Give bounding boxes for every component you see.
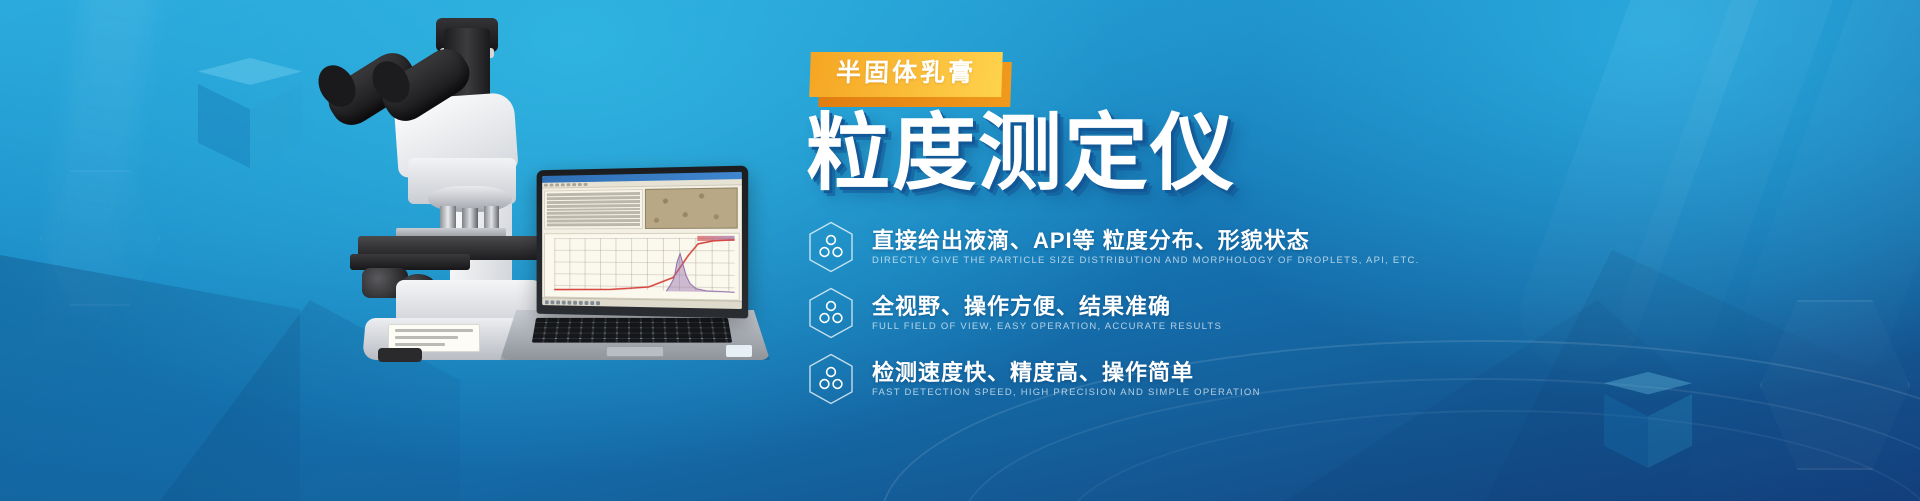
category-badge: 半固体乳膏 — [810, 52, 1002, 97]
software-panes — [542, 185, 742, 231]
hexagon-decoration-left — [40, 170, 160, 306]
hexagon-decoration-right — [1760, 300, 1910, 470]
page-title: 粒度测定仪 — [806, 111, 1500, 195]
isometric-cube-bottom-right — [1598, 372, 1698, 468]
feature-item: 全视野、操作方便、结果准确 FULL FIELD OF VIEW, EASY O… — [808, 287, 1500, 339]
light-beam — [31, 0, 159, 383]
software-distribution-chart — [544, 233, 740, 301]
feature-text: 全视野、操作方便、结果准确 FULL FIELD OF VIEW, EASY O… — [872, 294, 1222, 333]
laptop-lid — [537, 166, 749, 319]
software-parameter-table — [544, 189, 643, 229]
feature-item: 检测速度快、精度高、操作简单 FAST DETECTION SPEED, HIG… — [808, 353, 1500, 405]
feature-title-cn: 全视野、操作方便、结果准确 — [872, 294, 1222, 319]
diagonal-ribbon-3 — [1724, 0, 1920, 407]
hexagon-particles-icon — [808, 287, 854, 339]
laptop-sticker — [726, 345, 752, 357]
laptop-keyboard — [532, 318, 732, 343]
feature-subtitle-en: FAST DETECTION SPEED, HIGH PRECISION AND… — [872, 388, 1261, 398]
feature-text: 直接给出液滴、API等 粒度分布、形貌状态 DIRECTLY GIVE THE … — [872, 228, 1420, 267]
background-wedge-4 — [1480, 250, 1920, 501]
laptop-image — [500, 168, 770, 360]
hero-banner: 半固体乳膏 粒度测定仪 直接给出液滴、API等 粒度分布、形貌状态 DIRECT… — [0, 0, 1920, 501]
diagonal-ribbon-2 — [1607, 0, 1889, 373]
chart-curves — [545, 234, 739, 301]
software-screen — [542, 172, 742, 309]
feature-list: 直接给出液滴、API等 粒度分布、形貌状态 DIRECTLY GIVE THE … — [808, 221, 1500, 405]
curve-arc-3 — [1060, 410, 1920, 501]
badge-label: 半固体乳膏 — [809, 52, 1003, 97]
isometric-cube-top-left — [190, 58, 310, 168]
feature-subtitle-en: DIRECTLY GIVE THE PARTICLE SIZE DISTRIBU… — [872, 256, 1420, 266]
laptop-touchpad — [606, 346, 664, 357]
hexagon-particles-icon — [808, 353, 854, 405]
feature-subtitle-en: FULL FIELD OF VIEW, EASY OPERATION, ACCU… — [872, 322, 1222, 332]
hexagon-particles-icon — [808, 221, 854, 273]
feature-text: 检测速度快、精度高、操作简单 FAST DETECTION SPEED, HIG… — [872, 360, 1261, 399]
banner-content: 半固体乳膏 粒度测定仪 直接给出液滴、API等 粒度分布、形貌状态 DIRECT… — [800, 52, 1500, 419]
background-wedge-1 — [0, 255, 300, 501]
feature-item: 直接给出液滴、API等 粒度分布、形貌状态 DIRECTLY GIVE THE … — [808, 221, 1500, 273]
feature-title-cn: 检测速度快、精度高、操作简单 — [872, 360, 1261, 385]
product-image-group — [300, 18, 770, 363]
diagonal-ribbon-1 — [1504, 0, 1795, 389]
software-micrograph-preview — [645, 187, 738, 229]
feature-title-cn: 直接给出液滴、API等 粒度分布、形貌状态 — [872, 228, 1420, 253]
